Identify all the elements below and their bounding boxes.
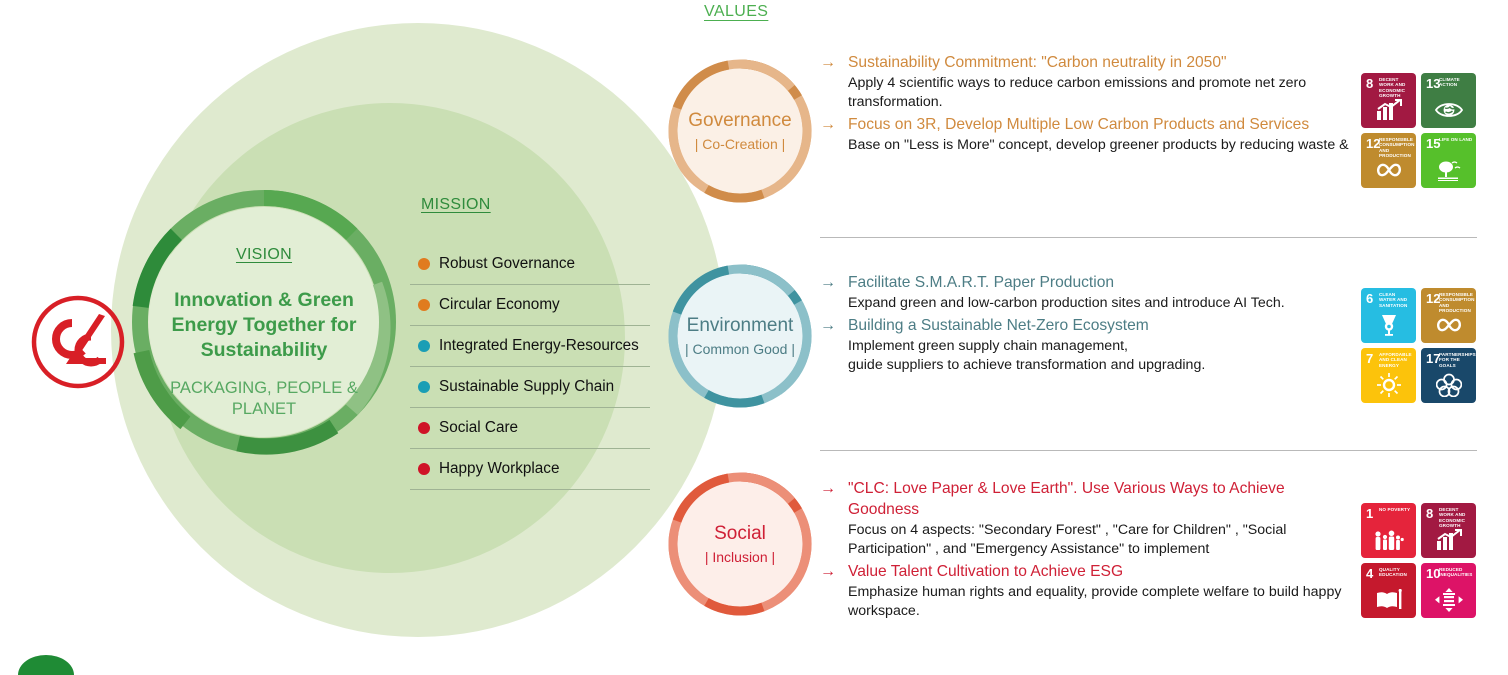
pillar-title: Environment	[687, 315, 794, 337]
content-entry: →"CLC: Love Paper & Love Earth". Use Var…	[820, 478, 1350, 559]
sdg-tile-6[interactable]: 6Clean Water and Sanitation	[1361, 288, 1416, 343]
pillar-circle-governance[interactable]: Governance| Co-Creation |	[666, 57, 814, 205]
values-header: VALUES	[704, 3, 768, 21]
pillar-subtitle: | Inclusion |	[705, 549, 775, 565]
sdg-tile-12[interactable]: 12Responsible Consumption and Production	[1421, 288, 1476, 343]
clc-logo	[28, 292, 128, 392]
mission-item-label: Happy Workplace	[439, 460, 559, 478]
mission-list: Robust GovernanceCircular EconomyIntegra…	[410, 244, 650, 490]
sdg-tile-1[interactable]: 1No Poverty	[1361, 503, 1416, 558]
mission-bullet-icon	[418, 381, 430, 393]
book-icon	[1361, 585, 1416, 615]
mission-item: Happy Workplace	[410, 449, 650, 490]
entry-body: Emphasize human rights and equality, pro…	[820, 583, 1350, 621]
growth-chart-icon	[1361, 95, 1416, 125]
mission-bullet-icon	[418, 258, 430, 270]
mission-item-label: Robust Governance	[439, 255, 575, 273]
sdg-tile-8[interactable]: 8Decent Work and Economic Growth	[1421, 503, 1476, 558]
sdg-grid-governance: 8Decent Work and Economic Growth13Climat…	[1361, 73, 1476, 188]
mission-item-label: Circular Economy	[439, 296, 560, 314]
mission-item: Circular Economy	[410, 285, 650, 326]
content-entry: →Sustainability Commitment: "Carbon neut…	[820, 52, 1350, 112]
section-divider-2	[820, 450, 1477, 451]
entry-body: Focus on 4 aspects: "Secondary Forest" ,…	[820, 521, 1350, 559]
sdg-grid-social: 1No Poverty8Decent Work and Economic Gro…	[1361, 503, 1476, 618]
entry-body: Apply 4 scientific ways to reduce carbon…	[820, 74, 1350, 112]
sdg-tile-13[interactable]: 13Climate Action	[1421, 73, 1476, 128]
mission-bullet-icon	[418, 299, 430, 311]
equal-arrows-icon	[1421, 585, 1476, 615]
sdg-tile-4[interactable]: 4Quality Education	[1361, 563, 1416, 618]
content-entry: →Value Talent Cultivation to Achieve ESG…	[820, 561, 1350, 621]
entry-heading: Value Talent Cultivation to Achieve ESG	[820, 561, 1350, 582]
sdg-tile-17[interactable]: 17Partnerships for the Goals	[1421, 348, 1476, 403]
entry-heading: Building a Sustainable Net-Zero Ecosyste…	[820, 315, 1350, 336]
vision-subtitle: PACKAGING, PEOPLE & PLANET	[145, 378, 383, 421]
content-entry: →Focus on 3R, Develop Multiple Low Carbo…	[820, 114, 1350, 155]
content-entry: →Building a Sustainable Net-Zero Ecosyst…	[820, 315, 1350, 375]
sdg-number: 1	[1366, 507, 1373, 520]
mission-bullet-icon	[418, 422, 430, 434]
arrow-icon: →	[820, 114, 836, 135]
pillar-content-social: →"CLC: Love Paper & Love Earth". Use Var…	[820, 478, 1350, 623]
family-icon	[1361, 525, 1416, 555]
entry-heading: Focus on 3R, Develop Multiple Low Carbon…	[820, 114, 1350, 135]
entry-heading: Facilitate S.M.A.R.T. Paper Production	[820, 272, 1350, 293]
arrow-icon: →	[820, 478, 836, 499]
infographic-canvas: VISION Innovation & Green Energy Togethe…	[0, 0, 1508, 675]
mission-bullet-icon	[418, 340, 430, 352]
entry-body: Implement green supply chain management,…	[820, 337, 1350, 375]
sdg-tile-12[interactable]: 12Responsible Consumption and Production	[1361, 133, 1416, 188]
mission-item-label: Social Care	[439, 419, 518, 437]
mission-item: Robust Governance	[410, 244, 650, 285]
sdg-number: 7	[1366, 352, 1373, 365]
pillar-content-environment: →Facilitate S.M.A.R.T. Paper ProductionE…	[820, 272, 1350, 377]
mission-bullet-icon	[418, 463, 430, 475]
arrow-icon: →	[820, 561, 836, 582]
sdg-title: Life on Land	[1439, 137, 1473, 142]
entry-heading: Sustainability Commitment: "Carbon neutr…	[820, 52, 1350, 73]
sdg-title: Quality Education	[1379, 567, 1413, 578]
arrow-icon: →	[820, 52, 836, 73]
pillar-content-governance: →Sustainability Commitment: "Carbon neut…	[820, 52, 1350, 157]
infinity-icon	[1421, 310, 1476, 340]
arrow-icon: →	[820, 315, 836, 336]
vision-label: VISION	[149, 246, 379, 264]
vision-headline: Innovation & Green Energy Together for S…	[140, 288, 388, 363]
entry-heading: "CLC: Love Paper & Love Earth". Use Vari…	[820, 478, 1350, 520]
sun-icon	[1361, 370, 1416, 400]
sdg-tile-7[interactable]: 7Affordable and Clean Energy	[1361, 348, 1416, 403]
sdg-title: Partnerships for the Goals	[1439, 352, 1473, 368]
rings-icon	[1421, 370, 1476, 400]
growth-chart-icon	[1421, 525, 1476, 555]
entry-body: Base on "Less is More" concept, develop …	[820, 136, 1350, 155]
mission-item: Integrated Energy-Resources	[410, 326, 650, 367]
sdg-number: 8	[1426, 507, 1433, 520]
sdg-title: No Poverty	[1379, 507, 1413, 512]
eye-earth-icon	[1421, 95, 1476, 125]
sdg-number: 6	[1366, 292, 1373, 305]
pillar-subtitle: | Co-Creation |	[695, 136, 786, 152]
sdg-grid-environment: 6Clean Water and Sanitation12Responsible…	[1361, 288, 1476, 403]
mission-item: Social Care	[410, 408, 650, 449]
content-entry: →Facilitate S.M.A.R.T. Paper ProductionE…	[820, 272, 1350, 313]
pillar-title: Governance	[688, 110, 792, 132]
pillar-circle-environment[interactable]: Environment| Common Good |	[666, 262, 814, 410]
water-drop-icon	[1361, 310, 1416, 340]
pillar-circle-social[interactable]: Social| Inclusion |	[666, 470, 814, 618]
sdg-number: 4	[1366, 567, 1373, 580]
sdg-title: Affordable and Clean Energy	[1379, 352, 1413, 368]
infinity-icon	[1361, 155, 1416, 185]
sdg-title: Clean Water and Sanitation	[1379, 292, 1413, 308]
entry-body: Expand green and low-carbon production s…	[820, 294, 1350, 313]
sdg-tile-10[interactable]: 10Reduced Inequalities	[1421, 563, 1476, 618]
mission-item-label: Integrated Energy-Resources	[439, 337, 639, 355]
sdg-title: Reduced Inequalities	[1439, 567, 1473, 578]
mission-label: MISSION	[421, 196, 491, 214]
arrow-icon: →	[820, 272, 836, 293]
sdg-title: Climate Action	[1439, 77, 1473, 88]
pillar-subtitle: | Common Good |	[685, 341, 795, 357]
bottom-leaf-shape	[18, 655, 74, 675]
mission-item-label: Sustainable Supply Chain	[439, 378, 614, 396]
mission-item: Sustainable Supply Chain	[410, 367, 650, 408]
sdg-tile-8[interactable]: 8Decent Work and Economic Growth	[1361, 73, 1416, 128]
pillar-title: Social	[714, 523, 766, 545]
sdg-tile-15[interactable]: 15Life on Land	[1421, 133, 1476, 188]
section-divider-1	[820, 237, 1477, 238]
sdg-number: 8	[1366, 77, 1373, 90]
tree-birds-icon	[1421, 155, 1476, 185]
